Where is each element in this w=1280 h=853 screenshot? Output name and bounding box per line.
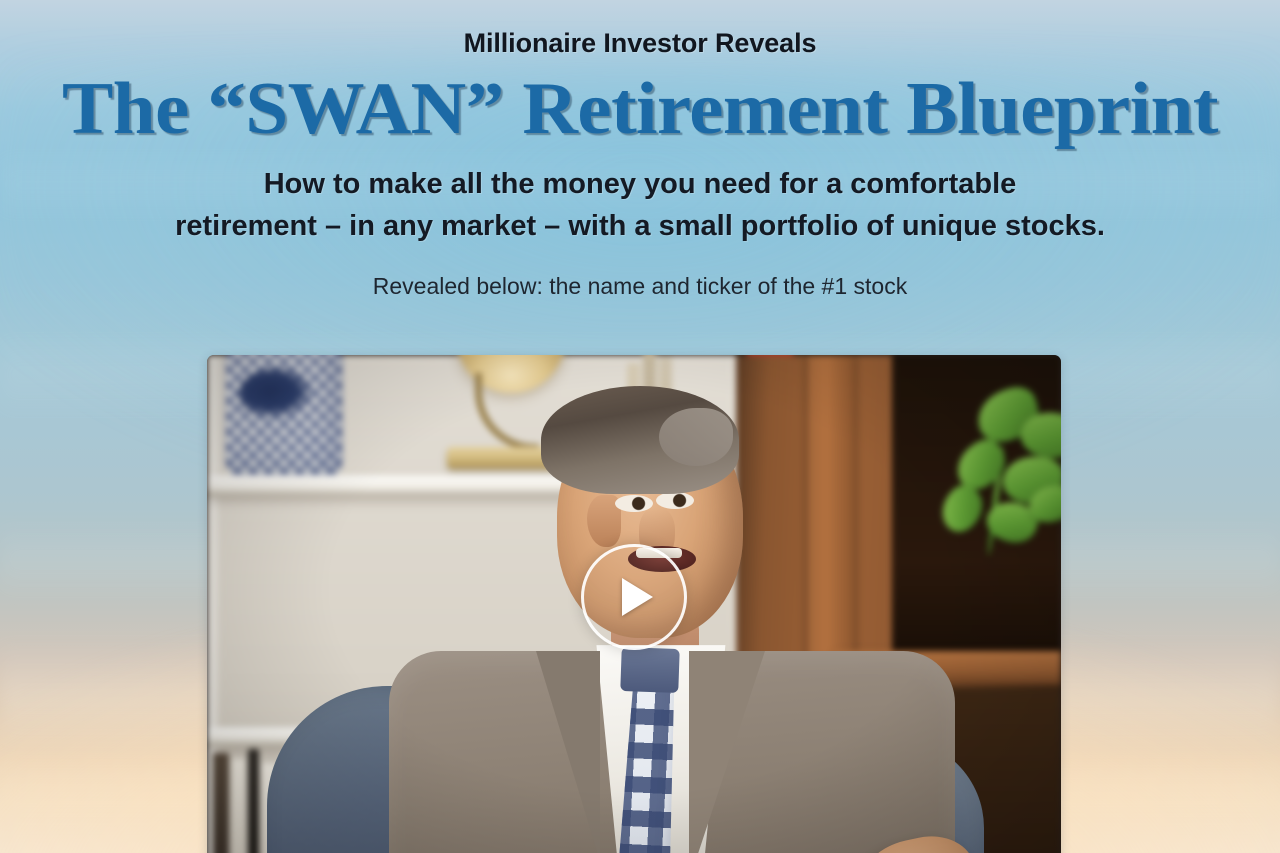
eyebrow-text: Millionaire Investor Reveals	[0, 0, 1280, 59]
eye-right	[656, 492, 694, 509]
torso	[389, 651, 955, 853]
play-triangle-icon	[622, 578, 653, 616]
hair	[541, 386, 739, 494]
landing-page: Millionaire Investor Reveals The “SWAN” …	[0, 0, 1280, 853]
necktie-knot	[621, 647, 681, 693]
subheadline: How to make all the money you need for a…	[0, 163, 1280, 247]
subheadline-line-1: How to make all the money you need for a…	[90, 163, 1190, 205]
subheadline-line-2: retirement – in any market – with a smal…	[90, 205, 1190, 247]
kicker-text: Revealed below: the name and ticker of t…	[0, 273, 1280, 300]
jacket-lapel-left	[536, 651, 600, 853]
play-button[interactable]	[581, 544, 687, 650]
jacket-lapel-right	[689, 651, 765, 853]
page-title: The “SWAN” Retirement Blueprint	[0, 71, 1280, 147]
video-player[interactable]	[207, 355, 1061, 853]
